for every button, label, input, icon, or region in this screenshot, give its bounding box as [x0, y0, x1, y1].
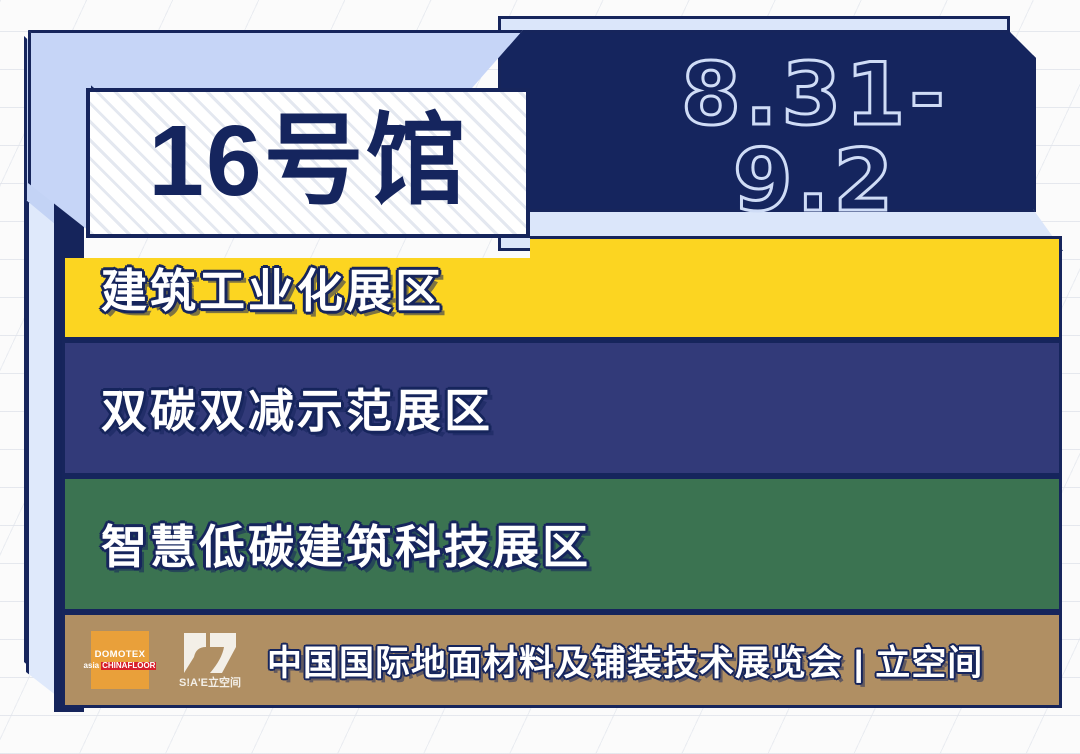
zone-band-label: 智慧低碳建筑科技展区 — [101, 511, 591, 577]
hall-number-panel: 16号馆 — [86, 88, 530, 238]
sae-wordmark: S!A'E立空间 — [179, 678, 241, 689]
zl-monogram-icon — [182, 631, 238, 675]
exhibition-full-title: 中国国际地面材料及铺装技术展览会 | 立空间 — [267, 635, 983, 686]
hall-box-top-face — [28, 30, 523, 96]
zone-band-label: 双碳双减示范展区 — [101, 375, 493, 441]
footer-branding-bar: DOMOTEX asia CHINAFLOOR S!A'E立空间 中国国际地面材… — [62, 612, 1062, 708]
zone-band-smart-low-carbon-tech[interactable]: 智慧低碳建筑科技展区 — [62, 476, 1062, 612]
zone-band-dual-carbon-dual-reduction[interactable]: 双碳双减示范展区 — [62, 340, 1062, 476]
hall-number-label: 16号馆 — [148, 111, 467, 211]
zone-band-label: 建筑工业化展区 — [101, 255, 444, 321]
domotex-chinafloor-label: CHINAFLOOR — [101, 662, 156, 670]
domotex-subline: asia CHINAFLOOR — [84, 662, 157, 670]
domotex-region-label: asia — [84, 662, 100, 670]
event-date-range: 8.31-9.2 — [600, 52, 1030, 224]
domotex-wordmark: DOMOTEX — [95, 650, 146, 660]
domotex-logo: DOMOTEX asia CHINAFLOOR — [91, 631, 149, 689]
exhibition-hall-poster: 8.31-9.2 16号馆 建筑工业化展区 双碳双减示范展区 智慧低碳建筑科技展… — [0, 0, 1080, 754]
sae-logo: S!A'E立空间 — [171, 625, 249, 695]
